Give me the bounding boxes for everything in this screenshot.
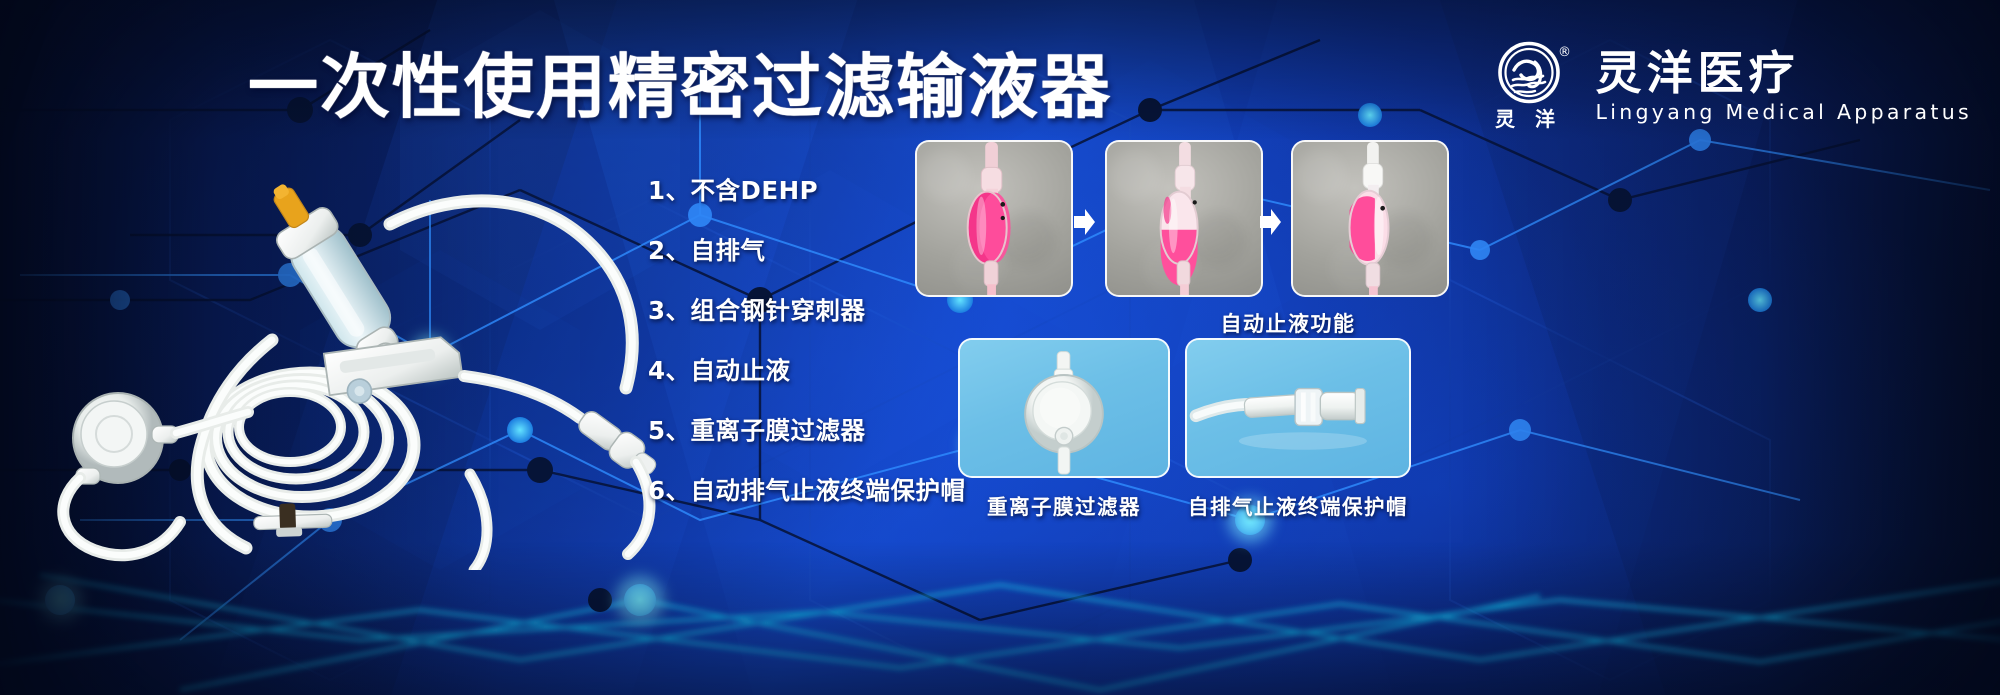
brand-name-cn: 灵洋医疗: [1595, 47, 1972, 99]
bottom-panel-cap: [1185, 338, 1411, 478]
self-venting-terminal-protective-cap-photo: [1187, 340, 1409, 476]
sequence-frame-2: [1105, 140, 1263, 297]
bottom-panel-caption-cap: 自排气止液终端保护帽: [1185, 490, 1411, 520]
feature-item-4: 4、自动止液: [648, 356, 978, 386]
sequence-arrow-2: [1258, 207, 1282, 237]
main-product-photo: [40, 150, 680, 570]
registered-mark: ®: [1558, 45, 1571, 60]
seal-char-ling: 灵: [1495, 107, 1516, 131]
heavy-ion-membrane-filter-photo: [960, 340, 1168, 476]
drip-chamber-auto-stopped: [1293, 142, 1447, 295]
lingyang-wave-seal-logo-icon: ® 灵 洋: [1491, 40, 1573, 132]
bottom-panel-filter: [958, 338, 1170, 478]
feature-item-5: 5、重离子膜过滤器: [648, 416, 978, 446]
page-title: 一次性使用精密过滤输液器: [248, 47, 1038, 127]
bottom-panel-caption-filter: 重离子膜过滤器: [958, 490, 1170, 520]
feature-item-3: 3、组合钢针穿刺器: [648, 296, 978, 326]
drip-chamber-half-drained: [1107, 142, 1261, 295]
sequence-frame-3: [1291, 140, 1449, 297]
product-banner: 一次性使用精密过滤输液器 ® 灵 洋 灵洋医疗 Lingyang Medical…: [0, 0, 2000, 695]
seal-char-yang: 洋: [1535, 107, 1555, 131]
sequence-caption: 自动止液功能: [1138, 308, 1438, 338]
brand-names: 灵洋医疗 Lingyang Medical Apparatus: [1595, 47, 1972, 125]
sequence-arrow-1: [1072, 207, 1096, 237]
feature-item-6: 6、自动排气止液终端保护帽: [648, 476, 978, 506]
drip-chamber-full-of-fluid: [917, 142, 1071, 295]
sequence-frame-1: [915, 140, 1073, 297]
brand-lockup: ® 灵 洋 灵洋医疗 Lingyang Medical Apparatus: [1491, 38, 1972, 134]
brand-name-en: Lingyang Medical Apparatus: [1595, 99, 1972, 125]
